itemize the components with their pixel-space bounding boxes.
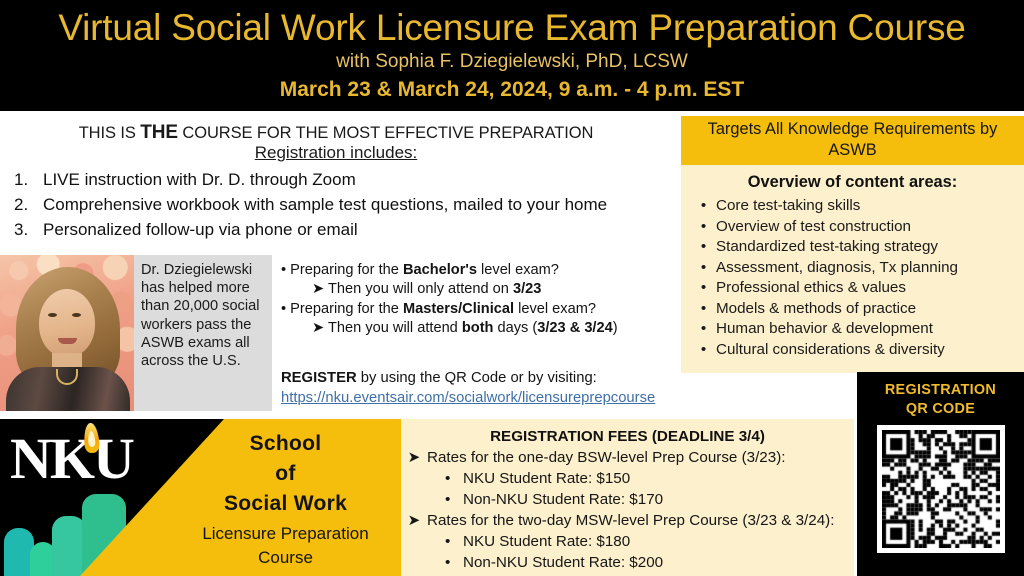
a1-before: Then you will only attend on [328, 281, 513, 297]
q2-before: Preparing for the [290, 301, 403, 317]
bullet-icon: • [691, 196, 716, 217]
nku-wordmark: NKU [10, 425, 133, 492]
list-item: • Human behavior & development [691, 319, 1024, 340]
content-areas-panel: Targets All Knowledge Requirements by AS… [681, 116, 1024, 373]
arrow-bullet-icon: ➤ [401, 447, 427, 468]
list-text: Core test-taking skills [716, 196, 860, 217]
list-text: Personalized follow-up via phone or emai… [43, 217, 358, 242]
a2-before: Then you will attend [328, 320, 462, 336]
page-title: Virtual Social Work Licensure Exam Prepa… [0, 0, 1024, 50]
q1-before: Preparing for the [290, 262, 403, 278]
fees-rate-row: • NKU Student Rate: $150 [401, 468, 854, 489]
exam-answer-bachelors: ➤Then you will only attend on 3/23 [281, 280, 673, 298]
list-text: Cultural considerations & diversity [716, 340, 945, 361]
bullet-icon: • [691, 258, 716, 279]
list-number: 3. [14, 217, 43, 242]
arrow-bullet-icon: ➤ [401, 510, 427, 531]
list-item: • Professional ethics & values [691, 278, 1024, 299]
q2-bold: Masters/Clinical [403, 301, 514, 317]
list-text: LIVE instruction with Dr. D. through Zoo… [43, 167, 356, 192]
school-line-2: of [183, 459, 388, 489]
hand-icon [52, 516, 86, 576]
school-line-3: Social Work [183, 489, 388, 519]
list-item: • Core test-taking skills [691, 196, 1024, 217]
list-number: 1. [14, 167, 43, 192]
fees-rate-row: • Non-NKU Student Rate: $200 [401, 552, 854, 573]
photo-eye-left [48, 313, 57, 317]
bullet-icon: • [445, 468, 463, 489]
list-text: Assessment, diagnosis, Tx planning [716, 258, 958, 279]
list-item: • Models & methods of practice [691, 299, 1024, 320]
a2-bold2: 3/23 & 3/24 [537, 320, 612, 336]
list-item: 1. LIVE instruction with Dr. D. through … [14, 167, 674, 192]
exam-question-masters: • Preparing for the Masters/Clinical lev… [281, 300, 673, 318]
fees-rate-label: NKU Student Rate: $150 [463, 468, 630, 489]
presenter-name: with Sophia F. Dziegielewski, PhD, LCSW [0, 50, 1024, 74]
fees-rate-label: Non-NKU Student Rate: $170 [463, 489, 663, 510]
list-item: • Cultural considerations & diversity [691, 340, 1024, 361]
lede-emphasis: THE [140, 122, 178, 143]
exam-question-bachelors: • Preparing for the Bachelor's level exa… [281, 261, 673, 279]
presenter-bio-text: Dr. Dziegielewski has helped more than 2… [134, 255, 272, 411]
list-text: Overview of test construction [716, 217, 911, 238]
fees-rate-label: NKU Student Rate: $180 [463, 531, 630, 552]
bullet-icon: • [691, 217, 716, 238]
arrow-bullet-icon: ➤ [312, 319, 328, 337]
fees-rate-row: • NKU Student Rate: $180 [401, 531, 854, 552]
list-text: Standardized test-taking strategy [716, 237, 938, 258]
photo-eye-right [72, 313, 81, 317]
qr-code-canvas[interactable] [882, 430, 1000, 548]
fees-heading: REGISTRATION FEES (DEADLINE 3/4) [401, 419, 854, 447]
a2-bold1: both [462, 320, 494, 336]
bullet-icon: • [445, 552, 463, 573]
photo-mouth [58, 338, 77, 344]
bullet-icon: • [445, 531, 463, 552]
content-areas-header: Targets All Knowledge Requirements by AS… [681, 116, 1024, 165]
list-text: Professional ethics & values [716, 278, 906, 299]
list-text: Comprehensive workbook with sample test … [43, 192, 607, 217]
fees-group-label: Rates for the two-day MSW-level Prep Cou… [427, 510, 834, 531]
fees-group-title: ➤ Rates for the one-day BSW-level Prep C… [401, 447, 854, 468]
content-areas-subheader: Overview of content areas: [681, 165, 1024, 196]
registration-includes-label: Registration includes: [255, 143, 418, 162]
photo-face [39, 289, 95, 357]
q2-after: level exam? [514, 301, 596, 317]
school-line-1: School [183, 429, 388, 459]
register-instruction: REGISTER by using the QR Code or by visi… [281, 370, 701, 386]
list-item: • Standardized test-taking strategy [691, 237, 1024, 258]
registration-url-link[interactable]: https://nku.eventsair.com/socialwork/lic… [281, 390, 655, 406]
list-text: Human behavior & development [716, 319, 933, 340]
arrow-bullet-icon: ➤ [312, 280, 328, 298]
bullet-icon: • [281, 262, 290, 278]
nku-logo-block: NKU School of Social Work Licensure Prep… [0, 419, 400, 576]
qr-title-line-2: QR CODE [857, 400, 1024, 419]
register-text: by using the QR Code or by visiting: [357, 370, 597, 386]
includes-list: 1. LIVE instruction with Dr. D. through … [14, 167, 674, 242]
list-text: Models & methods of practice [716, 299, 916, 320]
fees-rate-label: Non-NKU Student Rate: $200 [463, 552, 663, 573]
list-item: 3. Personalized follow-up via phone or e… [14, 217, 674, 242]
school-tagline: Licensure Preparation Course [183, 519, 388, 570]
list-item: • Overview of test construction [691, 217, 1024, 238]
a2-mid: days ( [493, 320, 537, 336]
bullet-icon: • [691, 278, 716, 299]
list-item: 2. Comprehensive workbook with sample te… [14, 192, 674, 217]
lede-before: THIS IS [79, 124, 141, 142]
lede-line: THIS IS THE COURSE FOR THE MOST EFFECTIV… [0, 122, 672, 144]
register-label: REGISTER [281, 370, 357, 386]
list-number: 2. [14, 192, 43, 217]
qr-code-image[interactable] [877, 425, 1005, 553]
q1-after: level exam? [477, 262, 559, 278]
a2-after: ) [613, 320, 618, 336]
exam-level-block: • Preparing for the Bachelor's level exa… [281, 261, 673, 339]
presenter-photo [0, 255, 134, 411]
fees-group-title: ➤ Rates for the two-day MSW-level Prep C… [401, 510, 854, 531]
registration-fees-panel: REGISTRATION FEES (DEADLINE 3/4) ➤ Rates… [392, 419, 854, 576]
list-item: • Assessment, diagnosis, Tx planning [691, 258, 1024, 279]
bullet-icon: • [691, 319, 716, 340]
bullet-icon: • [281, 301, 290, 317]
lede-after: COURSE FOR THE MOST EFFECTIVE PREPARATIO… [178, 124, 593, 142]
a1-bold: 3/23 [513, 281, 541, 297]
fees-group-label: Rates for the one-day BSW-level Prep Cou… [427, 447, 785, 468]
qr-title-line-1: REGISTRATION [857, 372, 1024, 400]
q1-bold: Bachelor's [403, 262, 477, 278]
school-name-block: School of Social Work Licensure Preparat… [183, 429, 388, 570]
bullet-icon: • [691, 340, 716, 361]
bullet-icon: • [445, 489, 463, 510]
registration-includes-heading: Registration includes: [0, 143, 672, 163]
bullet-icon: • [691, 237, 716, 258]
flyer-root: Virtual Social Work Licensure Exam Prepa… [0, 0, 1024, 576]
presenter-photo-block: Dr. Dziegielewski has helped more than 2… [0, 255, 272, 411]
exam-answer-masters: ➤Then you will attend both days (3/23 & … [281, 319, 673, 337]
fees-rate-row: • Non-NKU Student Rate: $170 [401, 489, 854, 510]
bullet-icon: • [691, 299, 716, 320]
content-areas-list: • Core test-taking skills • Overview of … [681, 196, 1024, 360]
qr-code-panel: REGISTRATION QR CODE [857, 372, 1024, 576]
event-dates: March 23 & March 24, 2024, 9 a.m. - 4 p.… [0, 74, 1024, 103]
header-banner: Virtual Social Work Licensure Exam Prepa… [0, 0, 1024, 111]
